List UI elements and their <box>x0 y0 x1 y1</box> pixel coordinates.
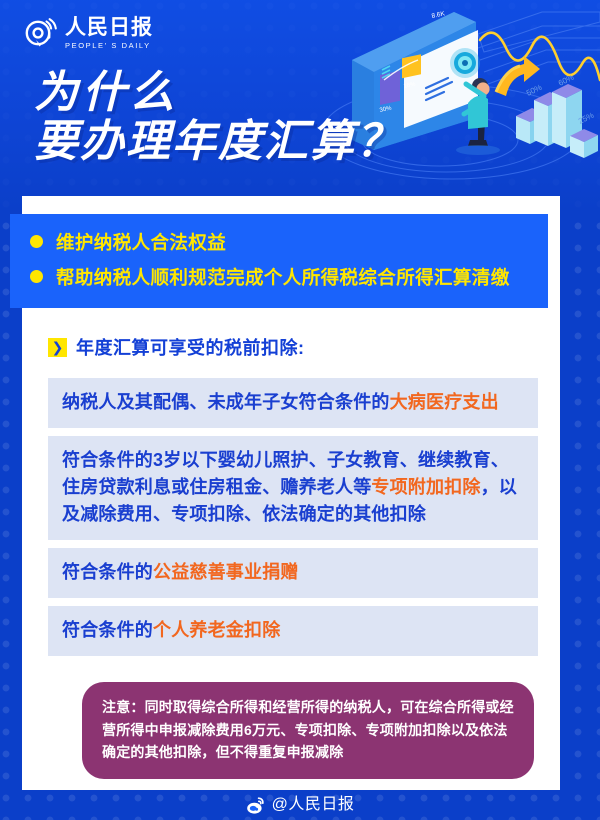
key-point-text: 帮助纳税人顺利规范完成个人所得税综合所得汇算清缴 <box>56 265 510 291</box>
deduction-card-list: 纳税人及其配偶、未成年子女符合条件的大病医疗支出 符合条件的3岁以下婴幼儿照护、… <box>48 378 538 656</box>
notice-box: 注意：同时取得综合所得和经营所得的纳税人，可在综合所得或经营所得中申报减除费用6… <box>82 682 534 779</box>
brand-name-cn: 人民日报 <box>65 17 153 38</box>
deduction-text: 纳税人及其配偶、未成年子女符合条件的大病医疗支出 <box>62 389 524 416</box>
deduction-text: 符合条件的公益慈善事业捐赠 <box>62 559 524 586</box>
page-title-line-2: 要办理年度汇算？ <box>34 117 402 166</box>
dot-icon <box>30 270 43 283</box>
list-item: 维护纳税人合法权益 <box>30 230 528 256</box>
masthead-logo: 人民日报 PEOPLE' S DAILY <box>24 16 153 50</box>
brand-name-en: PEOPLE' S DAILY <box>65 42 153 50</box>
key-points-box: 维护纳税人合法权益 帮助纳税人顺利规范完成个人所得税综合所得汇算清缴 <box>10 214 548 308</box>
dot-icon <box>30 235 43 248</box>
section-heading: ❯ 年度汇算可享受的税前扣除: <box>48 334 305 360</box>
deduction-prefix: 符合条件的 <box>62 562 153 582</box>
section-heading-text: 年度汇算可享受的税前扣除: <box>76 334 305 360</box>
deduction-text: 符合条件的3岁以下婴幼儿照护、子女教育、继续教育、住房贷款利息或住房租金、赡养老… <box>62 447 524 528</box>
at-signal-icon <box>24 16 58 50</box>
notice-text: 注意：同时取得综合所得和经营所得的纳税人，可在综合所得或经营所得中申报减除费用6… <box>102 696 514 764</box>
deduction-prefix: 符合条件的 <box>62 620 153 640</box>
chevron-glyph: ❯ <box>52 340 64 354</box>
footer-handle: @人民日报 <box>272 797 355 813</box>
list-item: 帮助纳税人顺利规范完成个人所得税综合所得汇算清缴 <box>30 265 528 291</box>
page-title: 为什么 要办理年度汇算？ <box>34 68 402 167</box>
brand-name-stack: 人民日报 PEOPLE' S DAILY <box>65 17 153 50</box>
deduction-highlight: 专项附加扣除 <box>371 477 480 497</box>
deduction-highlight: 公益慈善事业捐赠 <box>153 562 299 582</box>
list-item: 符合条件的3岁以下婴幼儿照护、子女教育、继续教育、住房贷款利息或住房租金、赡养老… <box>48 436 538 540</box>
footer-attribution: @人民日报 <box>0 790 600 820</box>
deduction-text: 符合条件的个人养老金扣除 <box>62 617 524 644</box>
infographic-poster: 人民日报 PEOPLE' S DAILY 为什么 要办理年度汇算？ <box>0 0 600 820</box>
weibo-icon <box>246 796 265 815</box>
list-item: 纳税人及其配偶、未成年子女符合条件的大病医疗支出 <box>48 378 538 428</box>
page-title-line-1: 为什么 <box>34 68 402 117</box>
chevron-right-icon: ❯ <box>48 338 67 357</box>
key-point-text: 维护纳税人合法权益 <box>56 230 226 256</box>
deduction-prefix: 纳税人及其配偶、未成年子女符合条件的 <box>62 392 390 412</box>
deduction-highlight: 个人养老金扣除 <box>153 620 280 640</box>
deduction-highlight: 大病医疗支出 <box>390 392 499 412</box>
list-item: 符合条件的公益慈善事业捐赠 <box>48 548 538 598</box>
list-item: 符合条件的个人养老金扣除 <box>48 606 538 656</box>
